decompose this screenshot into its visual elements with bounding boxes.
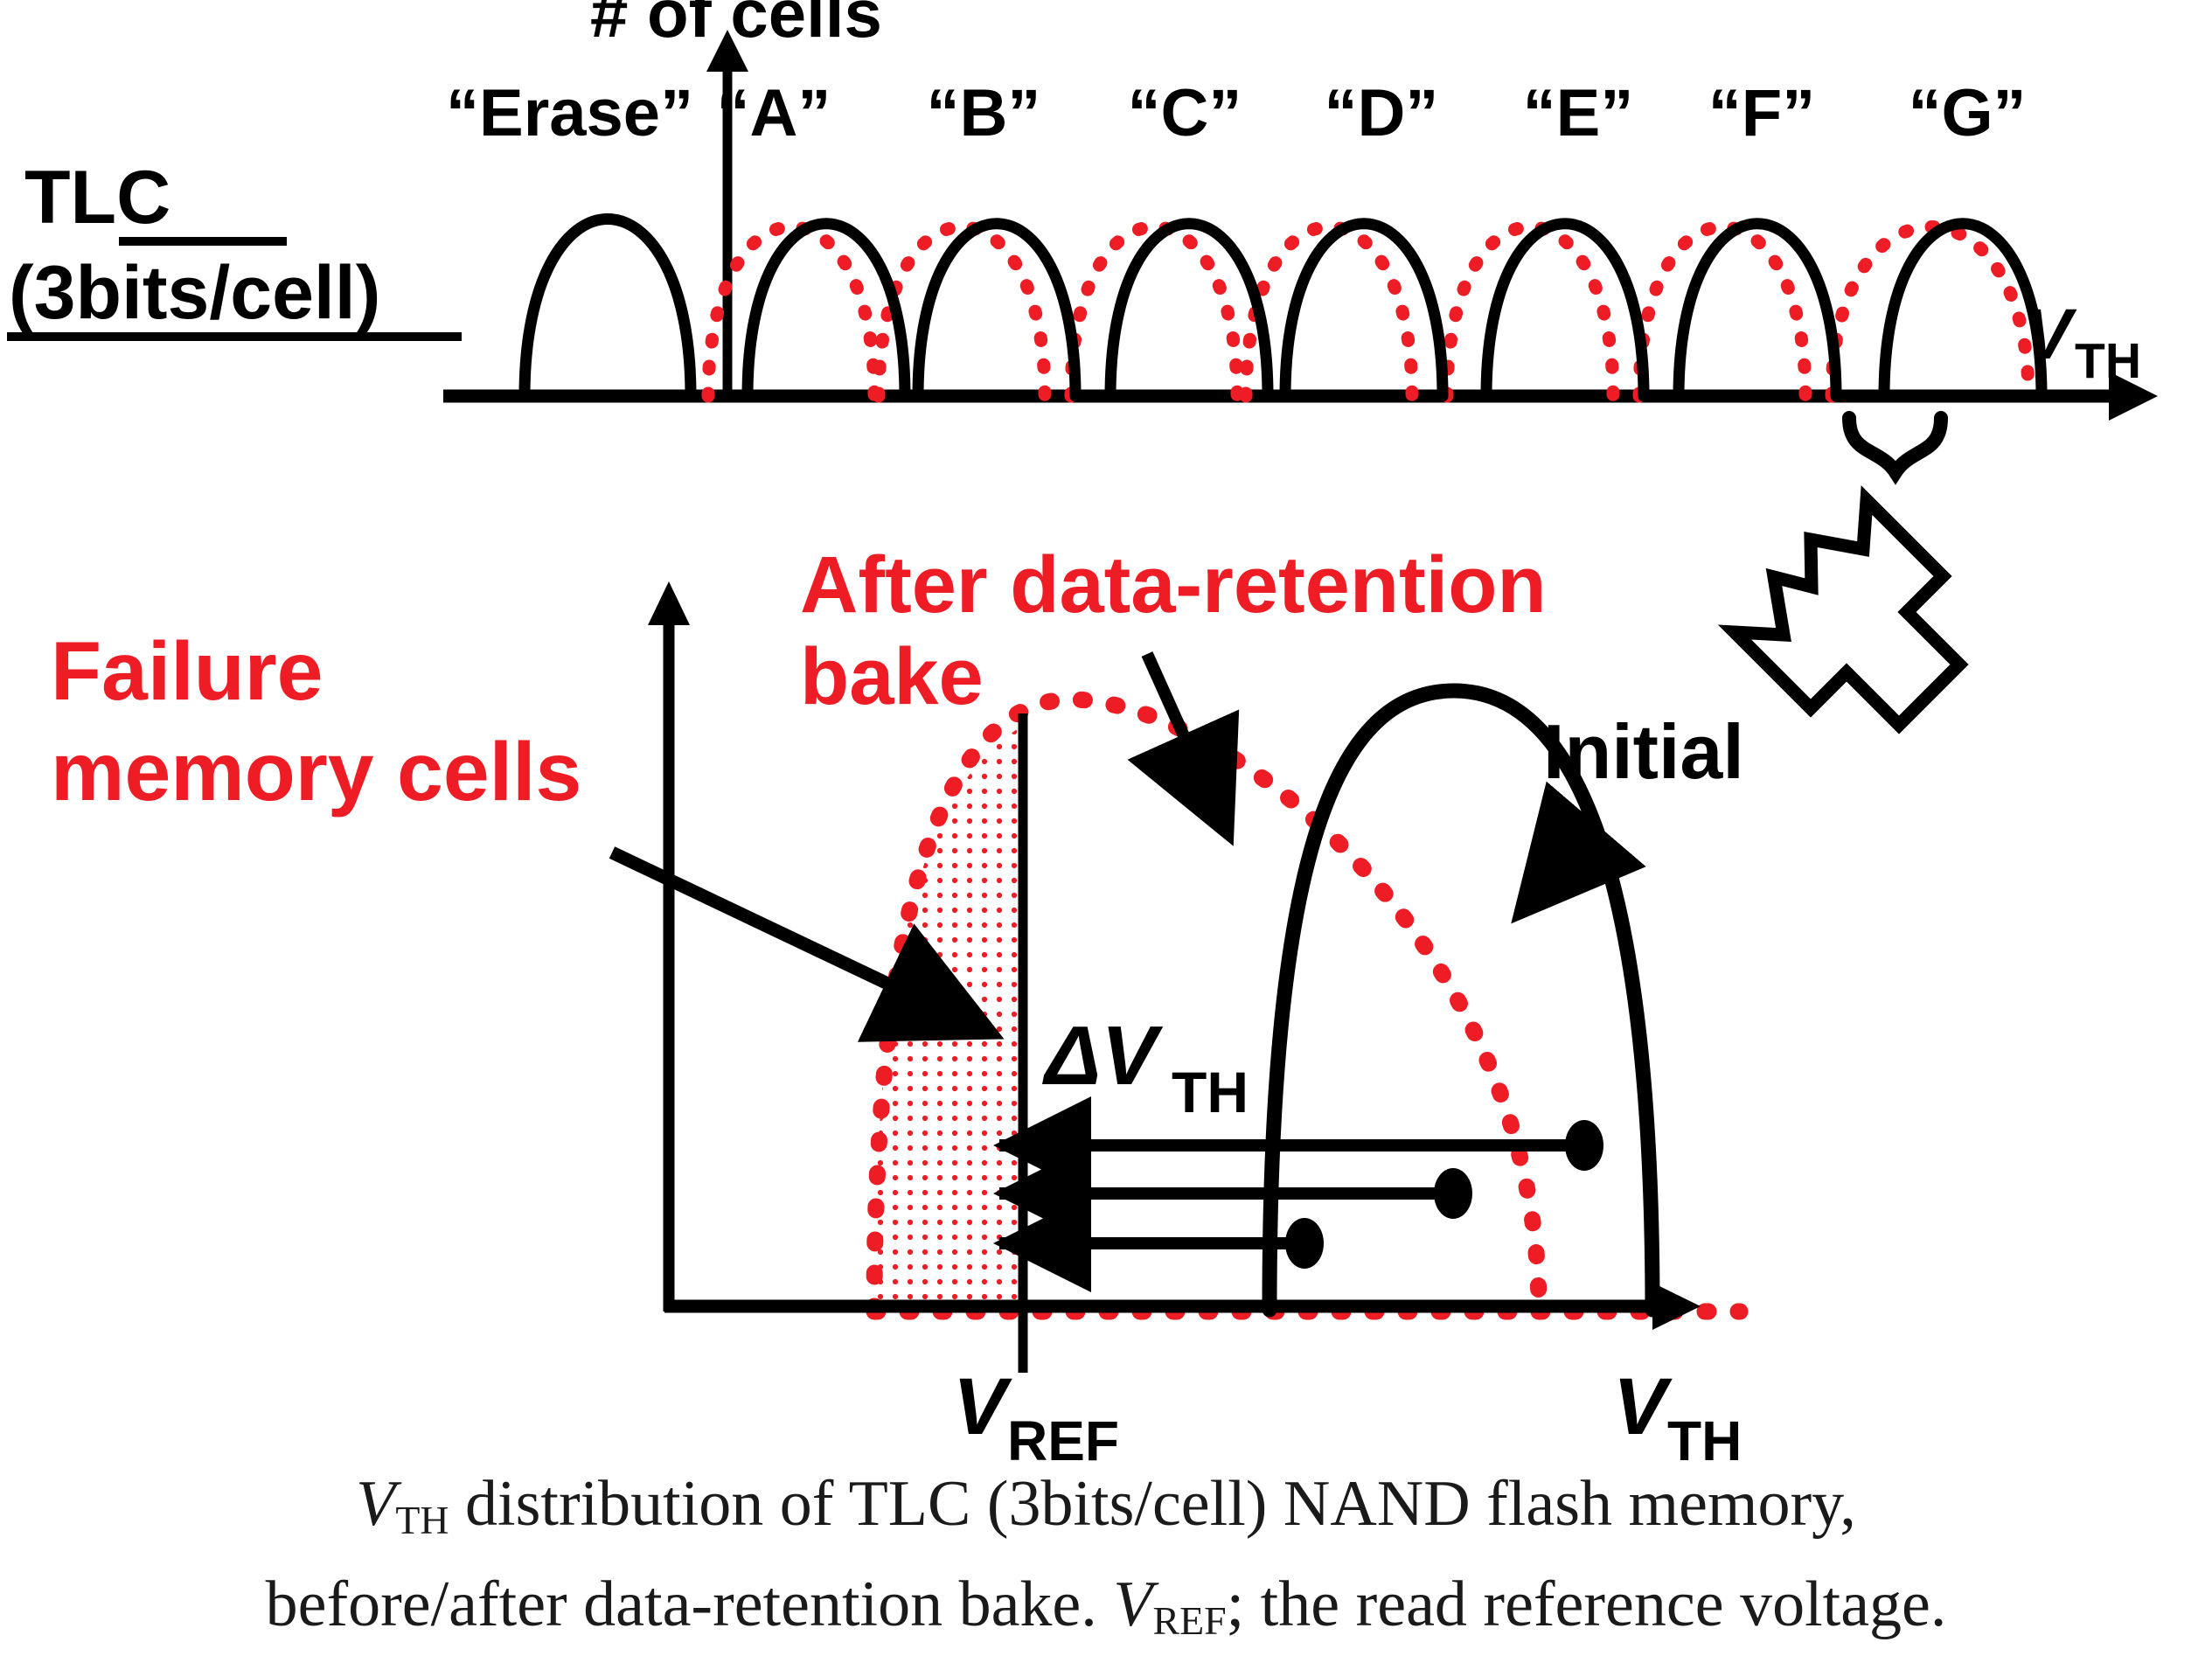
caption-vth-italic: V — [356, 1468, 395, 1540]
state-label-b: “B” — [927, 76, 1041, 150]
after-bake-annotation-line2: bake — [800, 632, 984, 721]
caption-vth-sub: TH — [395, 1498, 449, 1542]
figure-root: # of cells V TH TLC (3bits/cell) “Erase”… — [0, 0, 2212, 1654]
failure-annotation-line2: memory cells — [51, 726, 581, 818]
bottom-vth-main: V — [1613, 1362, 1673, 1451]
initial-annotation: Initial — [1520, 708, 1744, 914]
bottom-panel-y-axis — [648, 581, 690, 1312]
caption-vref-sub: REF — [1152, 1598, 1226, 1643]
top-panel: # of cells V TH TLC (3bits/cell) “Erase”… — [7, 0, 2158, 421]
tlc-row-label-line2: (3bits/cell) — [9, 251, 380, 335]
delta-vth-label: ΔV TH — [1042, 1009, 1249, 1124]
g-state-callout — [1735, 418, 1959, 725]
caption-line1-rest: distribution of TLC (3bits/cell) NAND fl… — [449, 1468, 1856, 1540]
bottom-panel: ΔV TH V REF V TH After data-retention ba… — [51, 540, 1744, 1472]
state-label-f: “F” — [1708, 76, 1815, 150]
failure-annotation-line1: Failure — [51, 625, 323, 718]
initial-annotation-label: Initial — [1543, 708, 1744, 795]
figure-caption-line-2: before/after data-retention bake. VREF; … — [0, 1562, 2212, 1663]
top-panel-state-labels: “Erase” “A” “B” “C” “D” “E” “F” “G” — [446, 76, 2027, 150]
top-panel-vth-sub: TH — [2075, 333, 2141, 389]
vref-label: V REF — [953, 1362, 1119, 1472]
tlc-row-label: TLC (3bits/cell) — [7, 156, 462, 337]
state-label-a: “A” — [717, 76, 831, 150]
top-panel-y-axis-label: # of cells — [590, 0, 882, 52]
top-panel-vth-main: V — [2024, 295, 2077, 374]
state-label-erase: “Erase” — [446, 76, 693, 150]
figure-caption: VTH distribution of TLC (3bits/cell) NAN… — [0, 1462, 2212, 1663]
state-label-g: “G” — [1908, 76, 2026, 150]
caption-line2-rest: ; the read reference voltage. — [1227, 1569, 1947, 1640]
vth-distribution-diagram: # of cells V TH TLC (3bits/cell) “Erase”… — [0, 0, 2212, 1654]
tlc-row-label-line1: TLC — [24, 156, 170, 240]
caption-vref-italic: V — [1113, 1569, 1152, 1640]
delta-vth-main: ΔV — [1042, 1009, 1163, 1103]
delta-vth-sub: TH — [1172, 1060, 1249, 1124]
top-panel-x-axis — [443, 372, 2158, 421]
figure-caption-line-1: VTH distribution of TLC (3bits/cell) NAN… — [0, 1462, 2212, 1562]
bottom-vth-label: V TH — [1613, 1362, 1742, 1472]
vref-main: V — [953, 1362, 1012, 1451]
state-label-c: “C” — [1128, 76, 1242, 150]
state-label-d: “D” — [1325, 76, 1439, 150]
state-label-e: “E” — [1523, 76, 1634, 150]
caption-line2-a: before/after data-retention bake. — [266, 1569, 1114, 1640]
after-bake-annotation-line1: After data-retention — [800, 540, 1547, 630]
initial-annotation-arrow — [1520, 835, 1587, 914]
